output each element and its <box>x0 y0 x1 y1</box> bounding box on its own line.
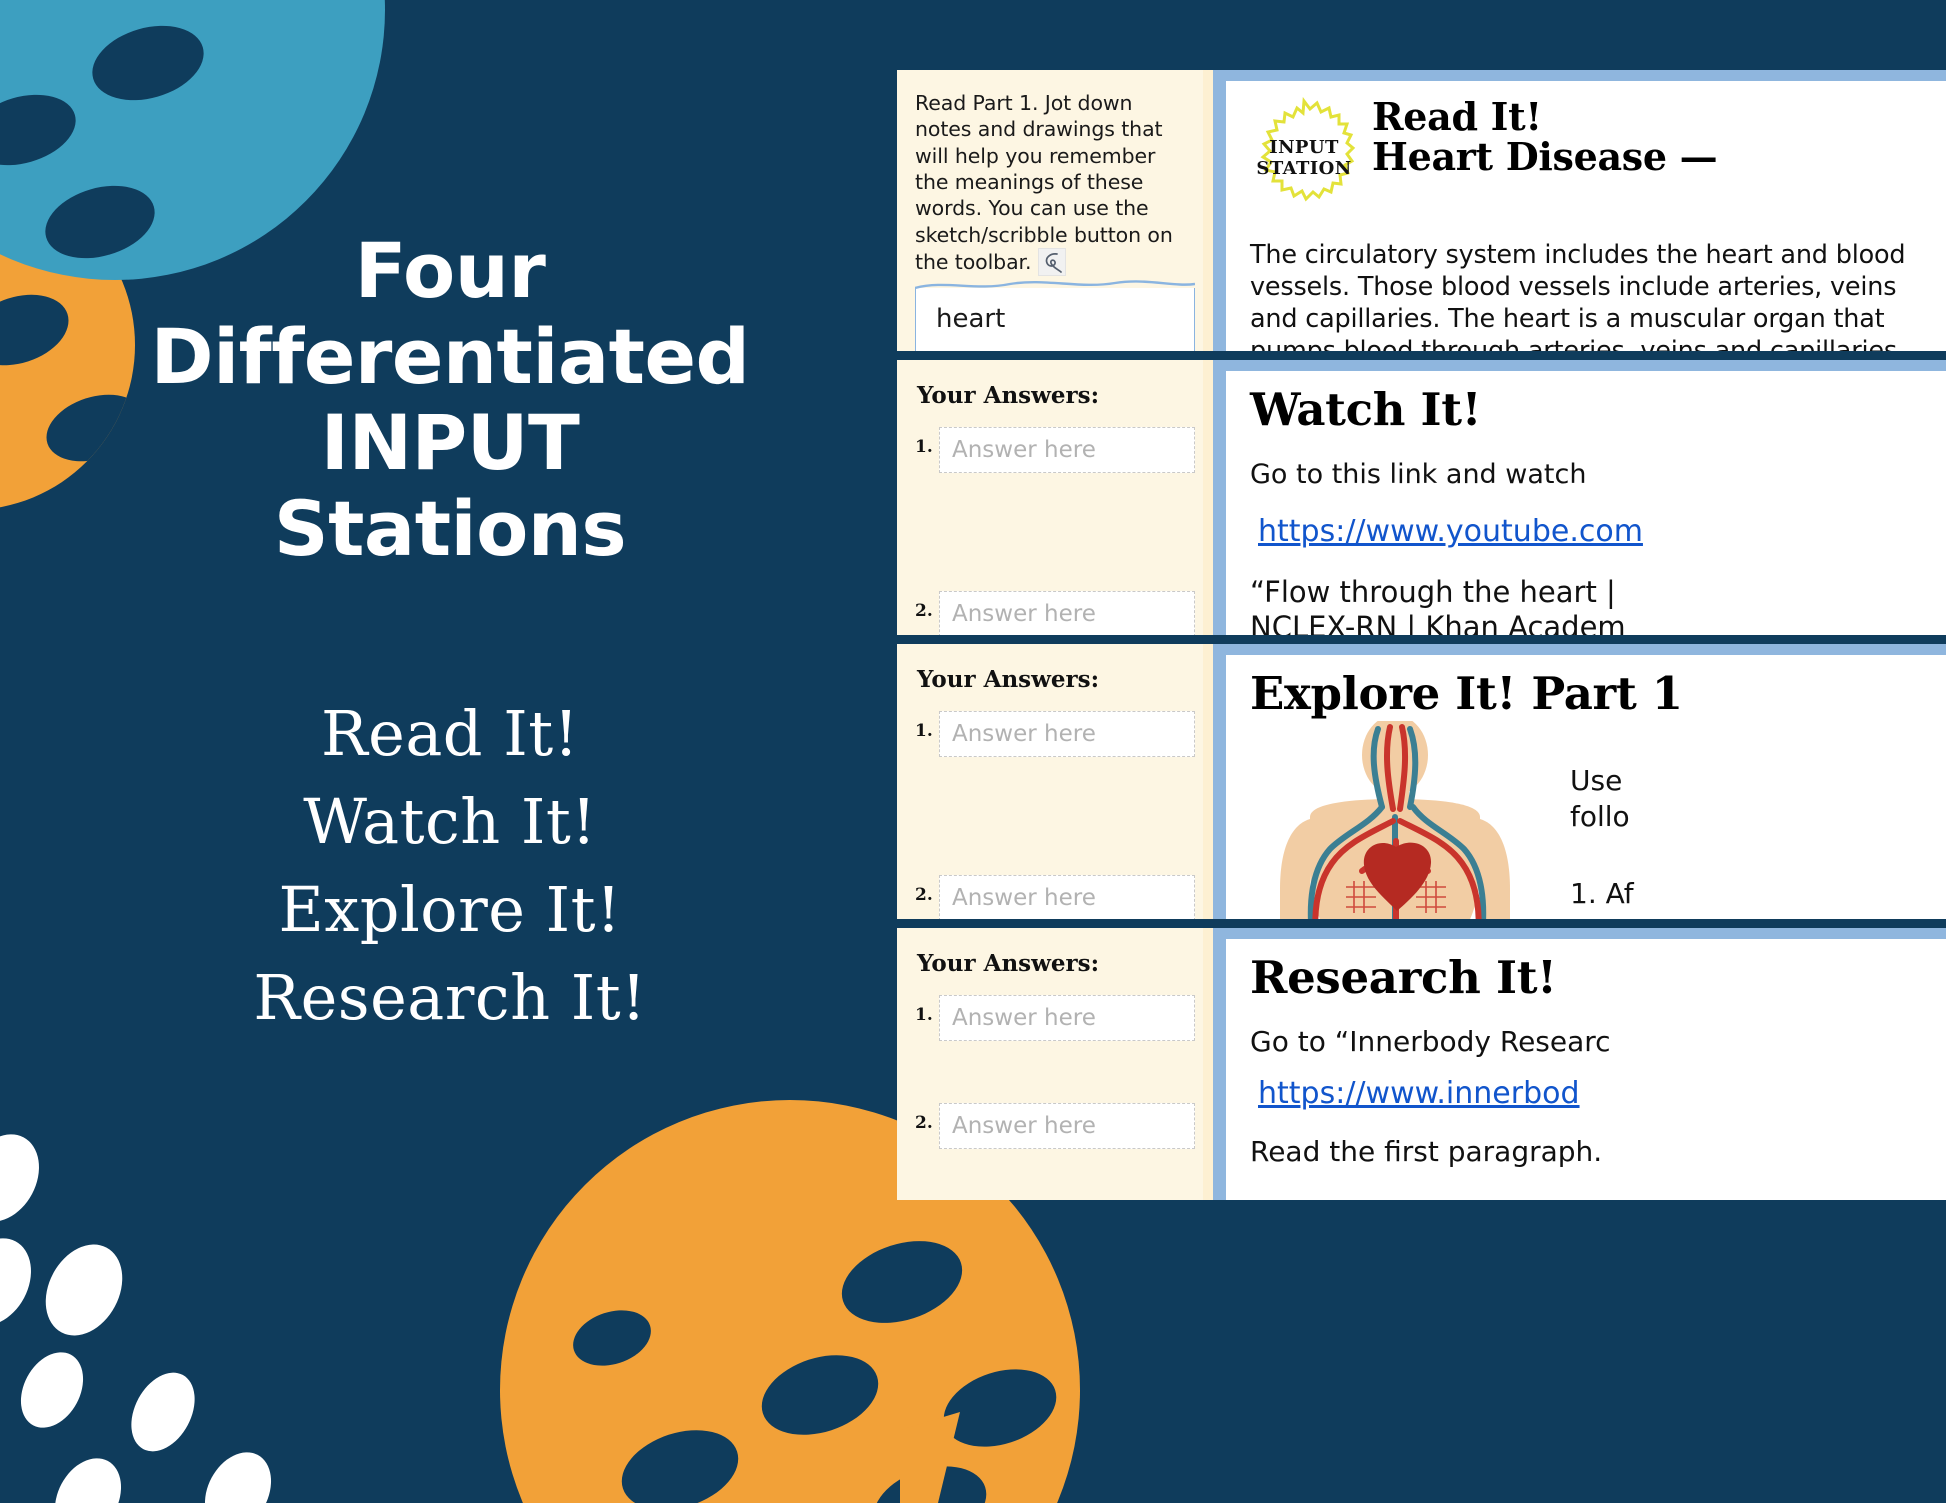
explore-it-instructions: Use follo 1. Af <box>1540 721 1634 911</box>
answer-input-1[interactable]: Answer here <box>939 711 1195 757</box>
page-title-line-2: Differentiated <box>100 314 800 400</box>
watch-it-video-title: “Flow through the heart | NCLEX-RN | Kha… <box>1250 575 1935 635</box>
station-list-item-research: Research It! <box>70 954 830 1042</box>
watch-it-instruction: Go to this link and watch <box>1250 455 1935 496</box>
slide-watch-it[interactable]: Your Answers: 1. Answer here 2. Answer h… <box>897 360 1946 635</box>
slide-stack: Read Part 1. Jot down notes and drawings… <box>897 70 1946 1209</box>
station-card-inner: Explore It! Part 1 <box>1226 655 1946 919</box>
left-title-column: Four Differentiated INPUT Stations Read … <box>0 0 900 1503</box>
sheet-edge <box>1203 70 1213 351</box>
slide-research-it[interactable]: Your Answers: 1. Answer here 2. Answer h… <box>897 928 1946 1200</box>
page-title-line-4: Stations <box>100 486 800 572</box>
answer-row[interactable]: 2. Answer here <box>915 875 1195 919</box>
answer-row[interactable]: 1. Answer here <box>915 711 1195 757</box>
answer-input-2[interactable]: Answer here <box>939 875 1195 919</box>
answer-number: 1. <box>915 995 939 1025</box>
answer-number: 2. <box>915 591 939 621</box>
explore-step-1: 1. Af <box>1570 876 1634 911</box>
station-list-item-read: Read It! <box>70 690 830 778</box>
poster-canvas: Four Differentiated INPUT Stations Read … <box>0 0 1946 1503</box>
page-title-line-1: Four <box>100 228 800 314</box>
answer-number: 2. <box>915 875 939 905</box>
youtube-link[interactable]: https://www.youtube.com <box>1258 514 1935 549</box>
input-station-seal-icon: INPUT STATION <box>1250 97 1358 221</box>
station-card-watch-it: Watch It! Go to this link and watch http… <box>1213 360 1946 635</box>
slide-explore-it[interactable]: Your Answers: 1. Answer here 2. Answer h… <box>897 644 1946 919</box>
answer-sheet-research-it: Your Answers: 1. Answer here 2. Answer h… <box>897 928 1213 1200</box>
station-list-item-explore: Explore It! <box>70 866 830 954</box>
answer-input-1[interactable]: Answer here <box>939 995 1195 1041</box>
station-card-inner: Watch It! Go to this link and watch http… <box>1226 371 1946 635</box>
station-card-read-it: INPUT STATION Read It! Heart Disease — T… <box>1213 70 1946 351</box>
video-title-line-1: “Flow through the heart | <box>1250 575 1935 610</box>
answer-number: 1. <box>915 711 939 741</box>
orange-sliver-bottom <box>900 1412 960 1503</box>
explore-instruction-line-1: Use <box>1570 763 1634 798</box>
station-card-inner: INPUT STATION Read It! Heart Disease — T… <box>1226 81 1946 351</box>
explore-instruction-line-2: follo <box>1570 799 1634 834</box>
station-list-item-watch: Watch It! <box>70 778 830 866</box>
station-card-inner: Research It! Go to “Innerbody Researc ht… <box>1226 939 1946 1200</box>
answer-number: 1. <box>915 427 939 457</box>
answer-row[interactable]: 2. Answer here <box>915 591 1195 635</box>
answer-sheet-watch-it: Your Answers: 1. Answer here 2. Answer h… <box>897 360 1213 635</box>
research-it-instruction: Go to “Innerbody Researc <box>1250 1025 1935 1058</box>
page-title: Four Differentiated INPUT Stations <box>100 228 800 572</box>
answer-spacer <box>915 763 1195 875</box>
read-it-heading-line-2: Heart Disease — <box>1372 137 1717 177</box>
station-list: Read It! Watch It! Explore It! Research … <box>70 690 830 1042</box>
station-card-explore-it: Explore It! Part 1 <box>1213 644 1946 919</box>
read-instructions: Read Part 1. Jot down notes and drawings… <box>915 90 1195 276</box>
slide-read-it[interactable]: Read Part 1. Jot down notes and drawings… <box>897 70 1946 351</box>
research-it-closing: Read the first paragraph. <box>1250 1135 1935 1168</box>
sheet-edge <box>1203 360 1213 635</box>
answers-title: Your Answers: <box>917 382 1195 409</box>
answer-spacer <box>915 1047 1195 1103</box>
read-it-heading-line-1: Read It! <box>1372 97 1717 137</box>
read-it-body: The circulatory system includes the hear… <box>1250 239 1935 351</box>
explore-it-heading: Explore It! Part 1 <box>1250 671 1935 717</box>
answer-number: 2. <box>915 1103 939 1133</box>
answer-row[interactable]: 1. Answer here <box>915 427 1195 473</box>
circulatory-system-diagram-icon <box>1250 721 1540 911</box>
research-it-heading: Research It! <box>1250 955 1935 1001</box>
scribble-icon[interactable] <box>1038 248 1066 276</box>
explore-it-body: Use follo 1. Af <box>1250 721 1935 911</box>
answer-input-1[interactable]: Answer here <box>939 427 1195 473</box>
sheet-edge <box>1203 928 1213 1200</box>
page-title-line-3: INPUT <box>100 400 800 486</box>
seal-line-2: STATION <box>1256 159 1351 180</box>
answer-row[interactable]: 2. Answer here <box>915 1103 1195 1149</box>
input-station-seal-label: INPUT STATION <box>1250 97 1358 221</box>
sheet-edge <box>1203 644 1213 919</box>
answer-row[interactable]: 1. Answer here <box>915 995 1195 1041</box>
card-header-row: INPUT STATION Read It! Heart Disease — <box>1250 97 1935 221</box>
answer-sheet-explore-it: Your Answers: 1. Answer here 2. Answer h… <box>897 644 1213 919</box>
read-instructions-text: Read Part 1. Jot down notes and drawings… <box>915 91 1173 274</box>
answer-spacer <box>915 479 1195 591</box>
vocab-word-card[interactable]: heart Type/draw here. <box>915 288 1195 351</box>
video-title-line-2: NCLEX-RN | Khan Academ <box>1250 610 1935 635</box>
read-it-heading: Read It! Heart Disease — <box>1372 97 1717 177</box>
watch-it-heading: Watch It! <box>1250 387 1935 433</box>
answer-input-2[interactable]: Answer here <box>939 591 1195 635</box>
answers-title: Your Answers: <box>917 950 1195 977</box>
answer-input-2[interactable]: Answer here <box>939 1103 1195 1149</box>
answers-title: Your Answers: <box>917 666 1195 693</box>
wavy-edge-icon <box>915 279 1195 291</box>
vocab-word-value: heart <box>936 304 1174 334</box>
innerbody-link[interactable]: https://www.innerbod <box>1258 1076 1935 1111</box>
station-card-research-it: Research It! Go to “Innerbody Researc ht… <box>1213 928 1946 1200</box>
answer-sheet-read-it: Read Part 1. Jot down notes and drawings… <box>897 70 1213 351</box>
seal-line-1: INPUT <box>1269 138 1339 159</box>
